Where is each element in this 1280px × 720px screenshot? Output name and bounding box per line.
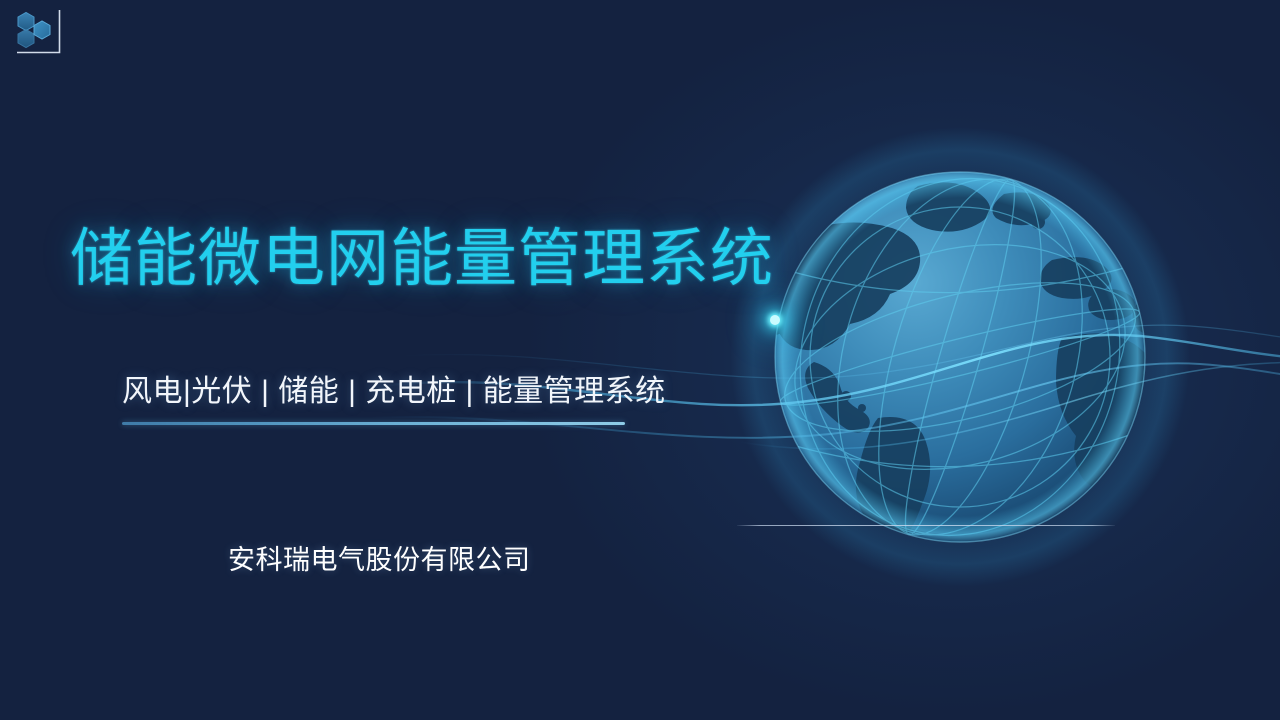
continents [741,182,1197,563]
subtitle-divider [122,422,625,425]
hexagon-shape-upper-left [18,13,34,31]
company-name: 安科瑞电气股份有限公司 [228,538,531,577]
globe-baseline-rule [737,525,1115,526]
hexagon-shape-lower-left [18,30,34,48]
slide-title: 储能微电网能量管理系统 [70,222,774,296]
earth-globe [600,150,1260,570]
slide-subtitle: 风电|光伏 | 储能 | 充电桩 | 能量管理系统 [122,373,666,411]
title-slide: 储能微电网能量管理系统 风电|光伏 | 储能 | 充电桩 | 能量管理系统 安科… [0,0,1280,720]
globe-glow-point [770,315,780,325]
hexagon-shape-right [34,21,50,39]
globe-grid [759,140,1162,573]
hexagon-logo[interactable] [14,8,66,60]
